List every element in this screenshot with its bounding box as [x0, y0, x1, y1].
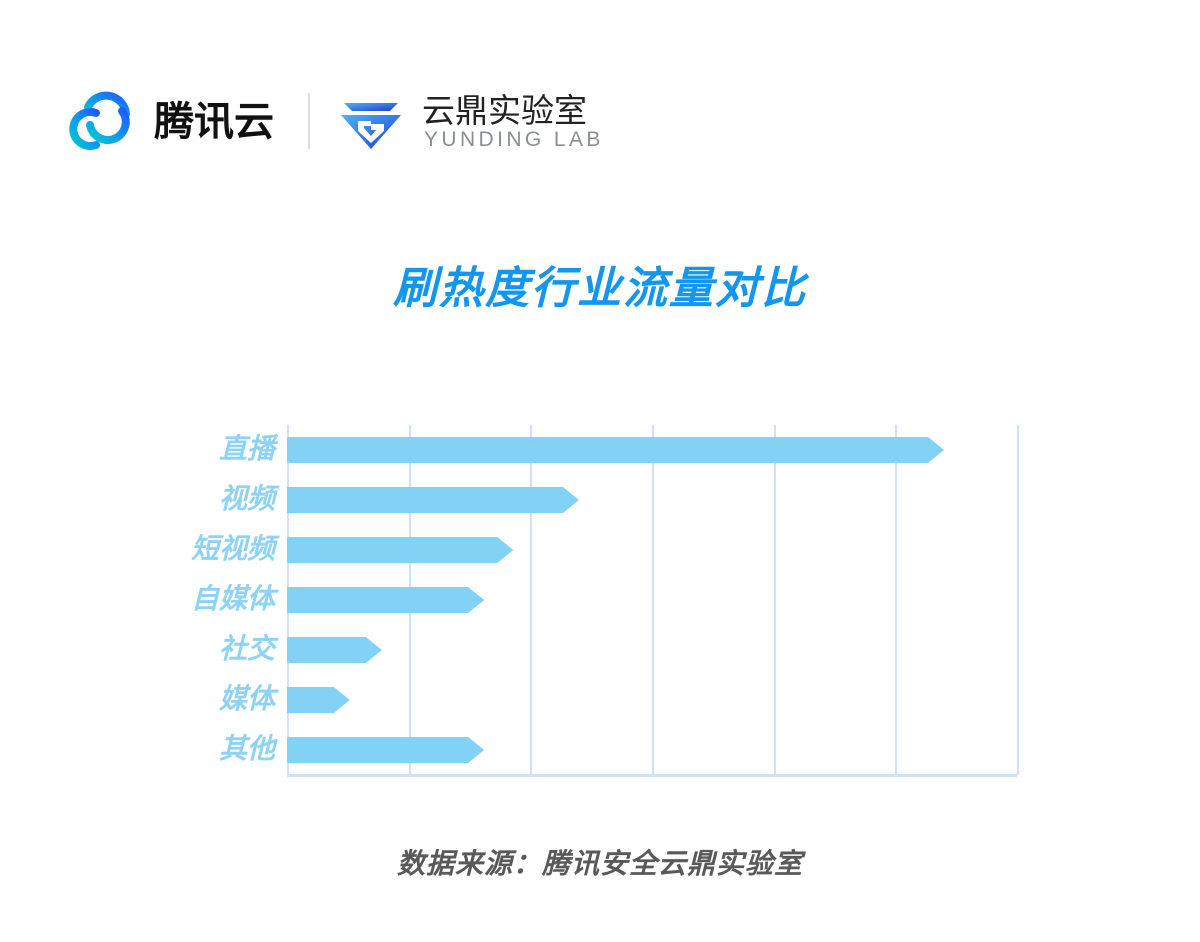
bar [287, 587, 484, 613]
grid-line [409, 425, 411, 775]
grid-line [530, 425, 532, 775]
category-label-2: 视频 [219, 485, 275, 513]
category-label-6: 媒体 [219, 685, 275, 713]
svg-text:腾讯云: 腾讯云 [154, 99, 274, 143]
grid-line [895, 425, 897, 775]
logo-divider [308, 93, 310, 149]
category-label-1: 直播 [219, 435, 275, 463]
bar [287, 637, 382, 663]
yunding-lab-en-name: YUNDING LAB [422, 129, 618, 150]
tencent-cloud-wordmark: 腾讯云 [154, 99, 280, 143]
category-label-4: 自媒体 [191, 585, 275, 613]
yunding-diamond-mark-icon [336, 91, 406, 151]
svg-text:云鼎实验室: 云鼎实验室 [422, 92, 587, 128]
bar [287, 487, 579, 513]
yunding-lab-text: 云鼎实验室 YUNDING LAB [422, 92, 618, 150]
grid-line [1017, 425, 1019, 775]
bar [287, 737, 484, 763]
category-label-7: 其他 [219, 735, 275, 763]
yunding-lab-cn-name: 云鼎实验室 [422, 92, 618, 128]
grid-line [287, 425, 289, 775]
tencent-cloud-logo: 腾讯云 [66, 91, 280, 151]
bar [287, 687, 350, 713]
brand-header: 腾讯云 云鼎实验室 [66, 84, 618, 158]
grid-line [774, 425, 776, 775]
category-label-5: 社交 [219, 635, 275, 663]
grid-line [652, 425, 654, 775]
bar [287, 437, 944, 463]
x-axis-line [287, 774, 1017, 777]
tencent-cloud-cloud-mark-icon [66, 91, 140, 151]
category-label-3: 短视频 [191, 535, 275, 563]
data-source-note: 数据来源：腾讯安全云鼎实验室 [0, 842, 1200, 882]
bar [287, 537, 513, 563]
page-title: 刷热度行业流量对比 [0, 252, 1200, 316]
chart-plot-area: 直播视频短视频自媒体社交媒体其他 [287, 425, 1017, 775]
yunding-lab-logo: 云鼎实验室 YUNDING LAB [336, 91, 618, 151]
